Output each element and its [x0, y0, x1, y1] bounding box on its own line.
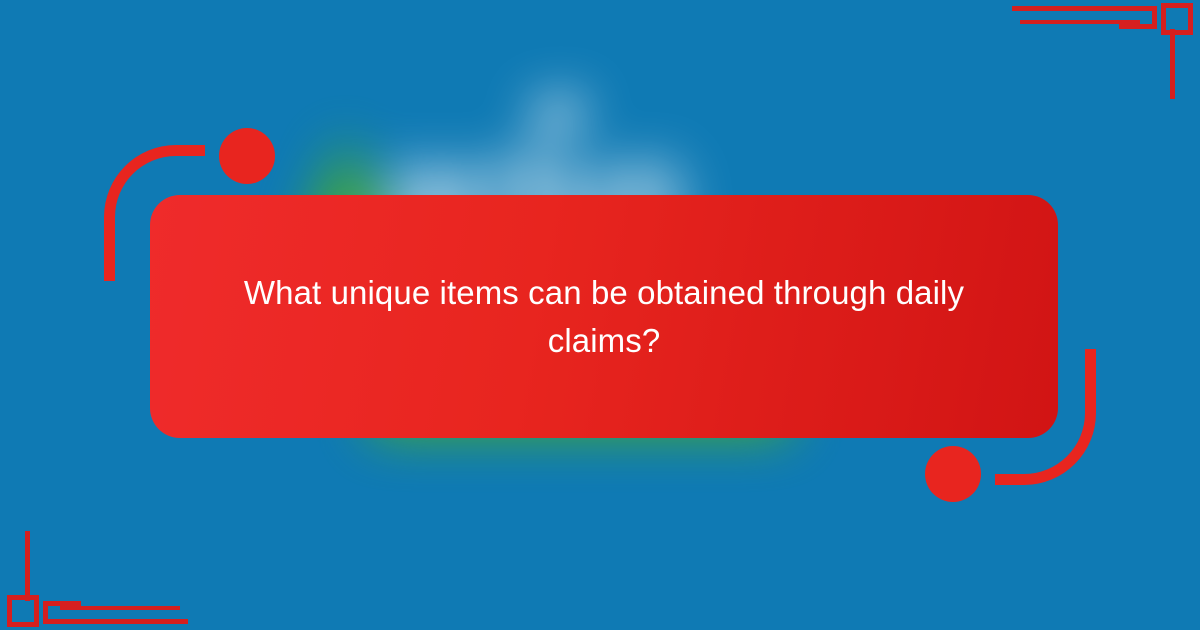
- question-card: What unique items can be obtained throug…: [150, 195, 1058, 438]
- bracket-line-inner: [60, 606, 180, 610]
- dot-top-left: [219, 128, 275, 184]
- bracket-line-vertical-long: [25, 531, 30, 601]
- bracket-square-icon: [7, 595, 39, 627]
- question-text: What unique items can be obtained throug…: [220, 269, 988, 365]
- bracket-line-outer: [43, 619, 188, 624]
- bracket-square-icon: [1161, 3, 1193, 35]
- brand-accent-icon: [533, 96, 583, 136]
- bracket-line-elbow: [1119, 24, 1157, 29]
- bracket-line-elbow: [43, 601, 81, 606]
- promo-card-canvas: actus What unique items can be obtained …: [0, 0, 1200, 630]
- bracket-line-vertical-long: [1170, 29, 1175, 99]
- corner-bracket-top-right: [1020, 0, 1200, 120]
- bracket-line-outer: [1012, 6, 1157, 11]
- corner-bracket-bottom-left: [0, 510, 180, 630]
- dot-bottom-right: [925, 446, 981, 502]
